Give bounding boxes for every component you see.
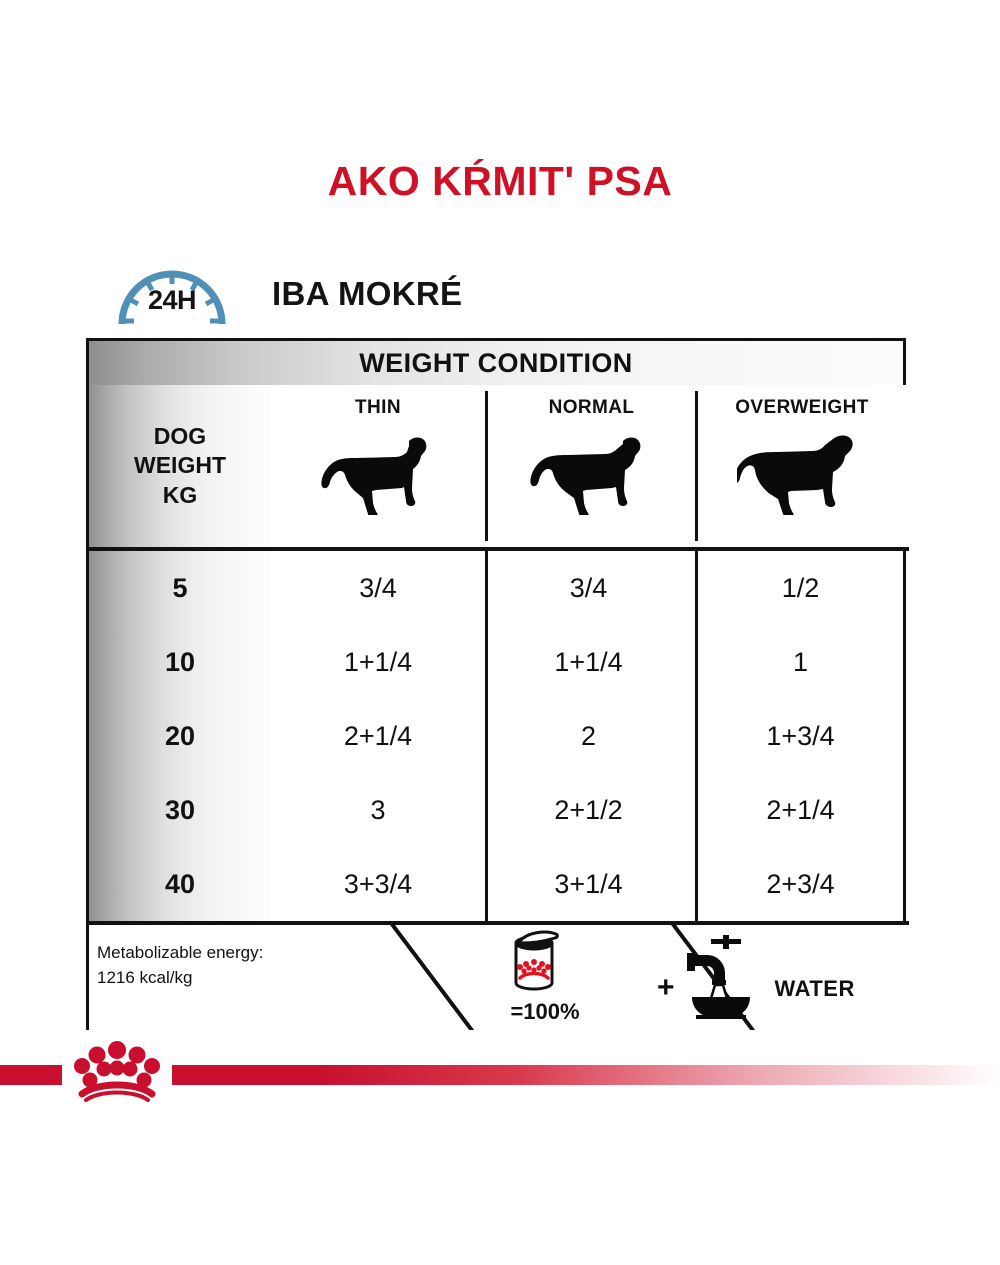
dog-weight-header-line-2: WEIGHT bbox=[134, 451, 226, 480]
wet-food-can-icon bbox=[498, 929, 570, 1000]
cell-thin: 3 bbox=[271, 795, 485, 826]
column-header-normal: NORMAL bbox=[488, 385, 695, 547]
column-header-overweight: OVERWEIGHT bbox=[698, 385, 906, 547]
can-percent-label: =100% bbox=[510, 999, 579, 1025]
brand-bar-left bbox=[0, 1065, 62, 1085]
cell-overweight: 2+1/4 bbox=[692, 795, 909, 826]
cell-normal: 2 bbox=[485, 721, 692, 752]
feeding-data-area: 5 3/4 3/4 1/2 10 1+1/4 1+1/4 1 20 2+1/4 … bbox=[89, 551, 909, 921]
water-label: WATER bbox=[775, 976, 855, 1002]
cell-weight: 20 bbox=[89, 721, 271, 752]
cell-thin: 3/4 bbox=[271, 573, 485, 604]
dog-thin-silhouette-icon bbox=[313, 427, 443, 520]
dog-weight-header: DOG WEIGHT KG bbox=[89, 385, 271, 547]
table-row: 5 3/4 3/4 1/2 bbox=[89, 551, 909, 625]
table-row: 10 1+1/4 1+1/4 1 bbox=[89, 625, 909, 699]
dog-overweight-silhouette-icon bbox=[737, 427, 867, 520]
data-separator-2 bbox=[695, 551, 698, 921]
dog-weight-header-line-1: DOG bbox=[154, 422, 206, 451]
weight-condition-band: WEIGHT CONDITION bbox=[89, 341, 903, 385]
can-portion-block: =100% bbox=[444, 929, 624, 1025]
dog-normal-silhouette-icon bbox=[527, 427, 657, 520]
cell-weight: 10 bbox=[89, 647, 271, 678]
column-label-normal: NORMAL bbox=[549, 397, 635, 419]
data-separator-1 bbox=[485, 551, 488, 921]
cell-thin: 1+1/4 bbox=[271, 647, 485, 678]
cell-overweight: 1+3/4 bbox=[692, 721, 909, 752]
energy-value: 1216 kcal/kg bbox=[97, 966, 263, 991]
cell-overweight: 2+3/4 bbox=[692, 869, 909, 900]
dog-weight-header-line-3: KG bbox=[163, 481, 198, 510]
cell-overweight: 1/2 bbox=[692, 573, 909, 604]
brand-bar-right bbox=[172, 1065, 1000, 1085]
energy-label: Metabolizable energy: bbox=[97, 941, 263, 966]
cell-weight: 5 bbox=[89, 573, 271, 604]
cell-normal: 3/4 bbox=[485, 573, 692, 604]
table-row: 20 2+1/4 2 1+3/4 bbox=[89, 699, 909, 773]
subtitle-row: 24H IBA MOKRÉ bbox=[112, 258, 462, 330]
cell-thin: 2+1/4 bbox=[271, 721, 485, 752]
cell-normal: 3+1/4 bbox=[485, 869, 692, 900]
table-row: 40 3+3/4 3+1/4 2+3/4 bbox=[89, 847, 909, 921]
royal-canin-crown-logo bbox=[62, 1038, 172, 1110]
column-label-overweight: OVERWEIGHT bbox=[735, 397, 869, 419]
plus-icon: + bbox=[657, 971, 675, 1005]
column-header-thin: THIN bbox=[271, 385, 485, 547]
cell-normal: 1+1/4 bbox=[485, 647, 692, 678]
cell-thin: 3+3/4 bbox=[271, 869, 485, 900]
cell-weight: 40 bbox=[89, 869, 271, 900]
table-footer-strip: Metabolizable energy: 1216 kcal/kg bbox=[89, 925, 909, 1030]
water-tap-icon bbox=[679, 933, 765, 1024]
water-block: + WATER bbox=[657, 933, 855, 1024]
clock-24h-icon: 24H bbox=[112, 258, 232, 330]
table-row: 30 3 2+1/2 2+1/4 bbox=[89, 773, 909, 847]
cell-weight: 30 bbox=[89, 795, 271, 826]
cell-normal: 2+1/2 bbox=[485, 795, 692, 826]
clock-24h-label: 24H bbox=[112, 258, 232, 330]
subtitle-text: IBA MOKRÉ bbox=[272, 275, 462, 313]
metabolizable-energy: Metabolizable energy: 1216 kcal/kg bbox=[97, 941, 263, 990]
page-title: AKO KŔMIT' PSA bbox=[0, 158, 1000, 205]
column-label-thin: THIN bbox=[355, 397, 401, 419]
feeding-table: WEIGHT CONDITION DOG WEIGHT KG THIN NORM… bbox=[86, 338, 906, 1030]
cell-overweight: 1 bbox=[692, 647, 909, 678]
